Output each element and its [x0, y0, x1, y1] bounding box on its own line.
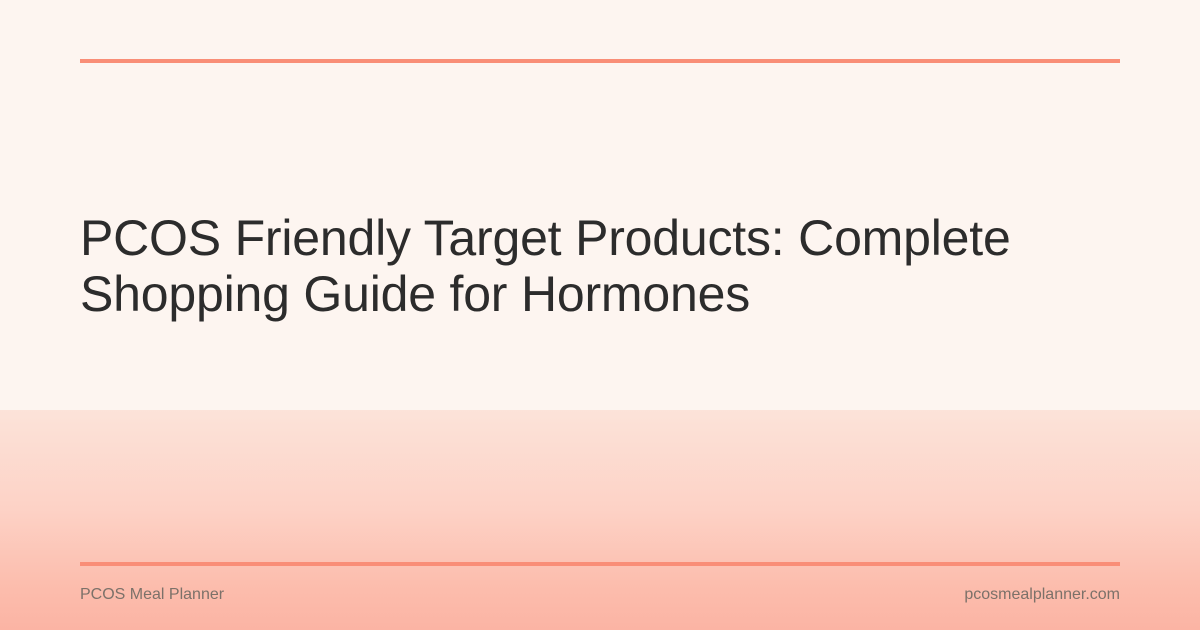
- page-title: PCOS Friendly Target Products: Complete …: [80, 210, 1080, 322]
- title-block: PCOS Friendly Target Products: Complete …: [80, 210, 1080, 322]
- footer-accent-rule: [80, 562, 1120, 566]
- top-accent-rule: [80, 59, 1120, 63]
- footer-brand-label: PCOS Meal Planner: [80, 584, 224, 606]
- footer: PCOS Meal Planner pcosmealplanner.com: [80, 581, 1120, 609]
- og-card: PCOS Friendly Target Products: Complete …: [0, 0, 1200, 630]
- footer-site-url: pcosmealplanner.com: [964, 584, 1120, 606]
